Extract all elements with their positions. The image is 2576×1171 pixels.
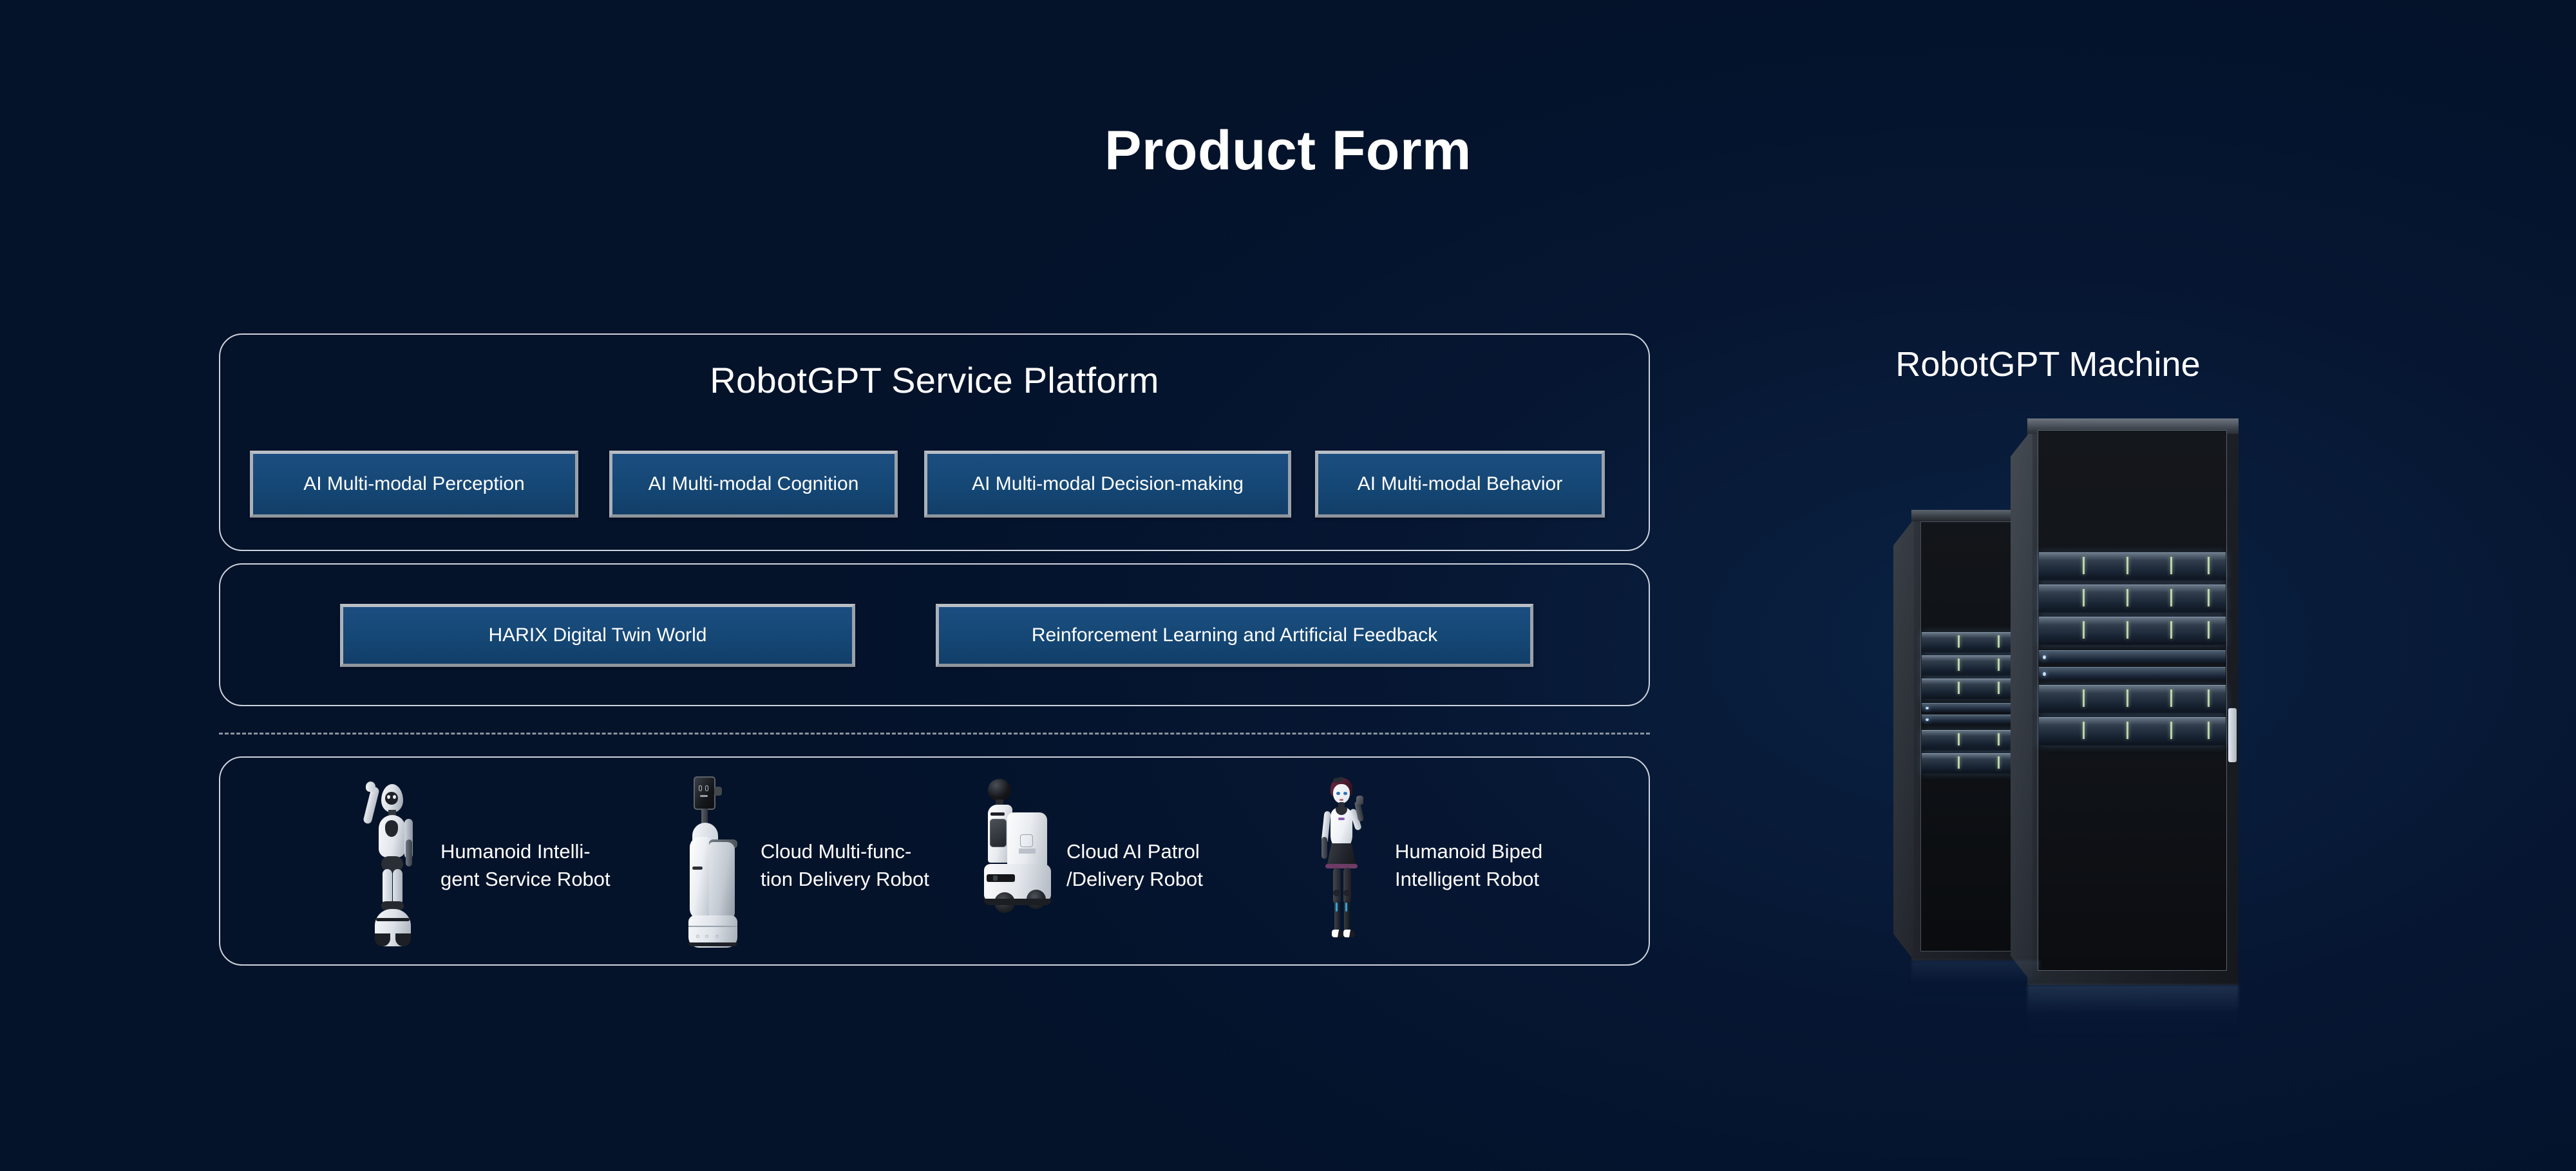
section-divider [219, 733, 1650, 735]
robot-label-delivery: Cloud Multi-func- tion Delivery Robot [761, 838, 929, 894]
platform-panel: RobotGPT Service Platform [219, 333, 1650, 551]
capability-box-behavior[interactable]: AI Multi-modal Behavior [1315, 451, 1605, 518]
robot-item-humanoid-service[interactable]: Humanoid Intelli- gent Service Robot [353, 773, 611, 959]
platform-heading: RobotGPT Service Platform [220, 359, 1649, 401]
humanoid-service-robot-icon [353, 773, 430, 959]
biped-humanoid-robot-icon [1307, 773, 1385, 959]
robot-item-patrol[interactable]: Cloud AI Patrol /Delivery Robot [979, 773, 1203, 959]
capability-box-decision-making[interactable]: AI Multi-modal Decision-making [924, 451, 1291, 518]
capability-box-cognition[interactable]: AI Multi-modal Cognition [609, 451, 898, 518]
robot-label-biped: Humanoid Biped Intelligent Robot [1395, 838, 1542, 894]
server-rack-icon [1893, 412, 2254, 1030]
robot-label-humanoid-service: Humanoid Intelli- gent Service Robot [440, 838, 611, 894]
page-title: Product Form [0, 119, 2576, 183]
harix-box-digital-twin-world[interactable]: HARIX Digital Twin World [340, 604, 855, 667]
capability-box-perception[interactable]: AI Multi-modal Perception [250, 451, 578, 518]
robot-label-patrol: Cloud AI Patrol /Delivery Robot [1066, 838, 1203, 894]
harix-box-reinforcement-learning[interactable]: Reinforcement Learning and Artificial Fe… [936, 604, 1533, 667]
machine-title: RobotGPT Machine [1790, 344, 2306, 384]
delivery-robot-icon [673, 773, 750, 959]
patrol-vehicle-robot-icon [979, 773, 1056, 959]
robot-item-biped[interactable]: Humanoid Biped Intelligent Robot [1307, 773, 1542, 959]
robot-item-delivery[interactable]: Cloud Multi-func- tion Delivery Robot [673, 773, 929, 959]
